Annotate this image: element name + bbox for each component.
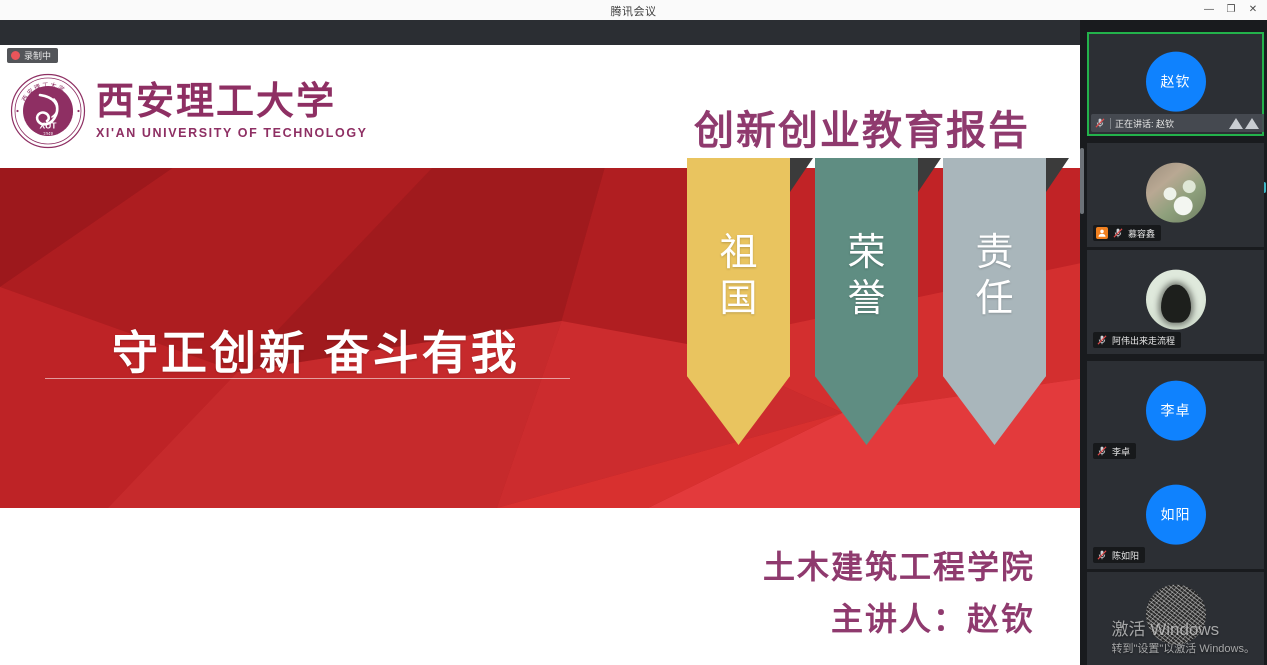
shared-screen-stage[interactable]: 录制中 XUT 1949 西安理工大 (0, 20, 1080, 665)
audio-level-icon (1221, 118, 1259, 129)
participant-name: 李卓 (1112, 445, 1130, 458)
window-controls: — ❐ ✕ (1199, 0, 1263, 20)
participant-name: 陈如阳 (1112, 549, 1139, 562)
avatar-silhouette (1161, 284, 1191, 322)
recording-label: 录制中 (24, 49, 51, 62)
avatar: 如阳 (1146, 485, 1206, 545)
participant-tile[interactable]: 慕容鑫 (1087, 143, 1264, 247)
slide-department: 土木建筑工程学院 (763, 542, 1035, 588)
microphone-muted-icon (1096, 549, 1108, 561)
slide-slogan: 守正创新 奋斗有我 (112, 317, 520, 383)
participant-tile[interactable]: 李卓 李卓 (1087, 361, 1264, 465)
microphone-muted-icon (1096, 445, 1108, 457)
ribbon-2-text: 荣 誉 (815, 230, 918, 322)
window-titlebar: 腾讯会议 — ❐ ✕ (0, 0, 1267, 21)
participant-nameplate: 阿伟出来走流程 (1093, 332, 1181, 348)
host-icon (1096, 227, 1108, 239)
ribbon-3-char-bottom: 任 (943, 276, 1046, 322)
ribbon-3-text: 责 任 (943, 230, 1046, 322)
participant-nameplate: 陈如阳 (1093, 547, 1145, 563)
participant-tile[interactable]: 赵钦 正在讲话: 赵钦 (1087, 32, 1264, 136)
slide-presenter: 主讲人：赵钦 (831, 594, 1035, 640)
avatar: 赵钦 (1146, 52, 1206, 112)
avatar (1146, 163, 1206, 223)
avatar (1146, 270, 1206, 330)
participant-name: 阿伟出来走流程 (1112, 334, 1175, 347)
ribbon-1: 祖 国 (687, 158, 790, 445)
ribbon-2: 荣 誉 (815, 158, 918, 445)
avatar-initials: 如阳 (1161, 505, 1191, 525)
participant-name: 慕容鑫 (1128, 227, 1155, 240)
participants-sidebar: 赵钦 正在讲话: 赵钦 (1080, 20, 1267, 665)
recording-indicator: 录制中 (7, 48, 58, 63)
presentation-slide: XUT 1949 西安理工大学 XI'AN UNIVERSITY OF TECH… (0, 45, 1080, 665)
avatar-initials: 李卓 (1161, 401, 1191, 421)
microphone-muted-icon (1094, 117, 1106, 129)
participant-name: 正在讲话: 赵钦 (1115, 117, 1174, 130)
svg-text:XUT: XUT (40, 121, 58, 131)
microphone-muted-icon (1096, 334, 1108, 346)
participant-nameplate: 正在讲话: 赵钦 (1091, 114, 1264, 132)
university-logo-text: 西安理工大学 XI'AN UNIVERSITY OF TECHNOLOGY (96, 83, 368, 140)
ribbon-3: 责 任 (943, 158, 1046, 445)
participant-nameplate: 慕容鑫 (1093, 225, 1161, 241)
university-emblem-icon: XUT 1949 西安理工大学 XI'AN UNIVERSITY OF TECH… (10, 73, 86, 149)
ribbon-1-char-top: 祖 (687, 230, 790, 276)
ribbon-1-text: 祖 国 (687, 230, 790, 322)
avatar: 李卓 (1146, 381, 1206, 441)
university-name-cn: 西安理工大学 (96, 83, 368, 121)
participant-tile[interactable]: 阿伟出来走流程 (1087, 250, 1264, 354)
tencent-meeting-window: 腾讯会议 — ❐ ✕ 录制中 XUT 1949 (0, 0, 1267, 665)
close-button[interactable]: ✕ (1243, 1, 1263, 19)
record-dot-icon (11, 51, 20, 60)
university-logo: XUT 1949 西安理工大学 XI'AN UNIVERSITY OF TECH… (10, 73, 368, 149)
minimize-button[interactable]: — (1199, 1, 1219, 19)
slogan-underline (45, 378, 570, 379)
microphone-muted-icon (1112, 227, 1124, 239)
ribbon-2-char-bottom: 誉 (815, 276, 918, 322)
nameplate-divider (1110, 118, 1111, 129)
participant-nameplate: 李卓 (1093, 443, 1136, 459)
sidebar-scrollbar-thumb[interactable] (1080, 148, 1084, 214)
participant-tile[interactable]: 如阳 陈如阳 (1087, 465, 1264, 569)
maximize-restore-button[interactable]: ❐ (1221, 1, 1241, 19)
stage-top-strip (0, 20, 1080, 45)
avatar-initials: 赵钦 (1161, 72, 1191, 92)
window-title: 腾讯会议 (0, 3, 1267, 19)
avatar (1146, 584, 1206, 644)
ribbon-2-char-top: 荣 (815, 230, 918, 276)
university-name-en: XI'AN UNIVERSITY OF TECHNOLOGY (96, 126, 368, 140)
ribbon-3-char-top: 责 (943, 230, 1046, 276)
participant-tile[interactable] (1087, 572, 1264, 665)
slide-headline: 创新创业教育报告 (694, 98, 1030, 156)
ribbon-1-char-bottom: 国 (687, 276, 790, 322)
